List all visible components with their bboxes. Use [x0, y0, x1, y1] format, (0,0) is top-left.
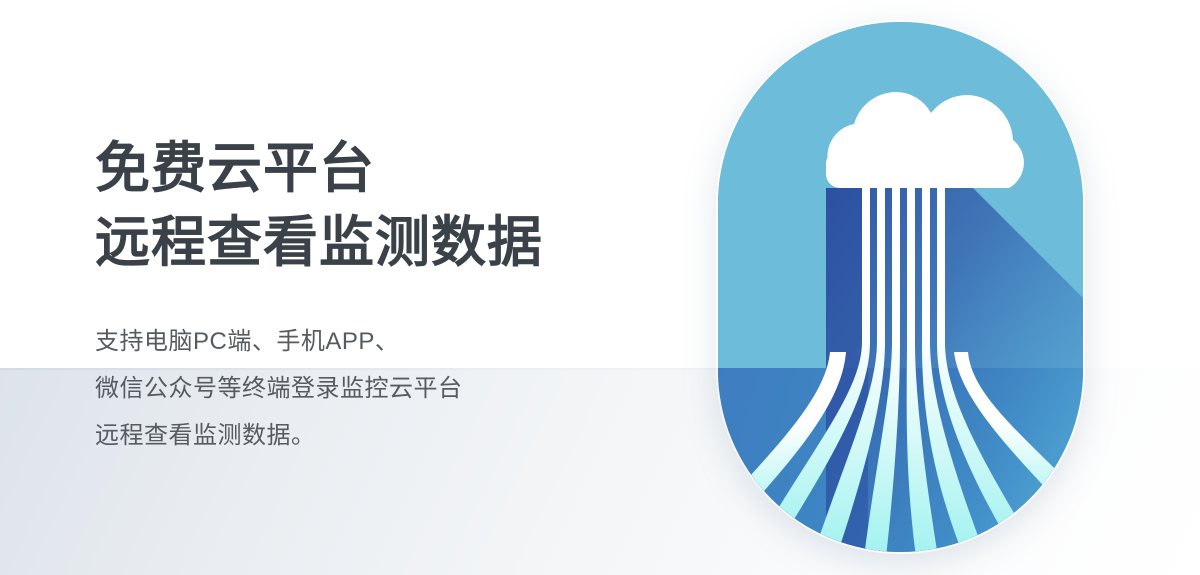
headline-line-1: 免费云平台 — [95, 131, 675, 205]
body-copy: 支持电脑PC端、手机APP、 微信公众号等终端登录监控云平台 远程查看监测数据。 — [95, 318, 675, 459]
body-line-1: 支持电脑PC端、手机APP、 — [95, 318, 675, 365]
body-line-2: 微信公众号等终端登录监控云平台 — [95, 365, 675, 412]
headline-line-2: 远程查看监测数据 — [95, 205, 675, 279]
promo-banner: 免费云平台 远程查看监测数据 支持电脑PC端、手机APP、 微信公众号等终端登录… — [0, 0, 1200, 575]
body-line-3: 远程查看监测数据。 — [95, 412, 675, 459]
illustration-capsule — [718, 22, 1083, 552]
copy-block: 免费云平台 远程查看监测数据 支持电脑PC端、手机APP、 微信公众号等终端登录… — [95, 131, 675, 459]
cloud-icon — [718, 22, 1083, 552]
